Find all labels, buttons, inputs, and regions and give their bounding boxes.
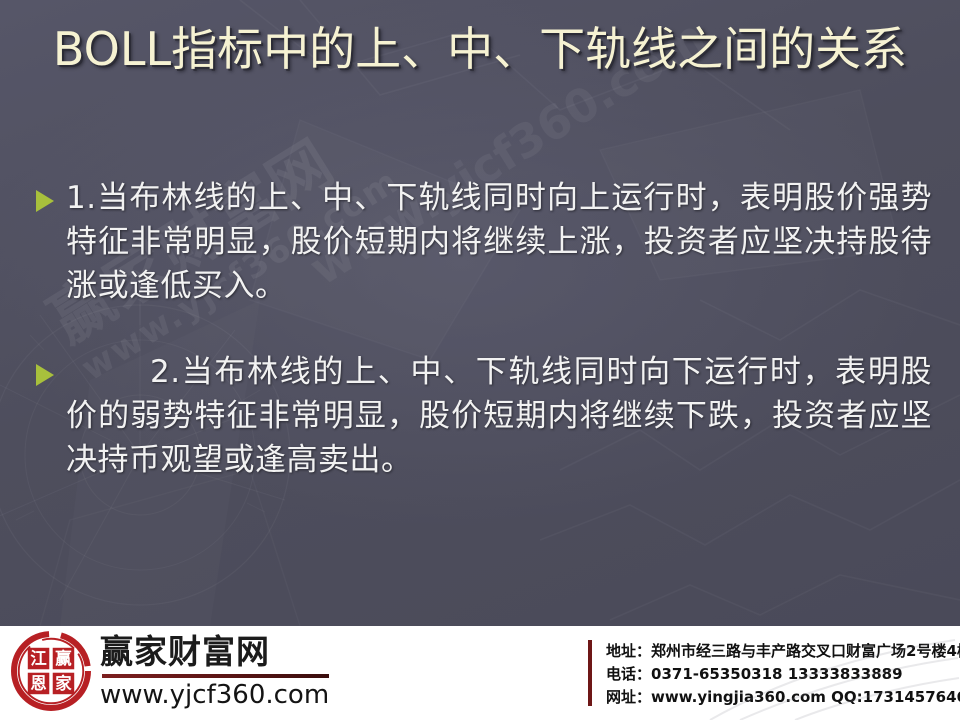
svg-text:恩: 恩 <box>30 674 46 693</box>
brand-url[interactable]: www.yjcf360.com <box>100 681 329 710</box>
brand-divider <box>102 674 329 678</box>
bullet-text: 2.当布林线的上、中、下轨线同时向下运行时，表明股价的弱势特征非常明显，股价短期… <box>66 350 932 482</box>
contact-website-value[interactable]: www.yingjia360.com QQ:1731457646 <box>651 688 960 706</box>
triangle-right-bullet-icon <box>36 364 54 386</box>
bullet-text: 1.当布林线的上、中、下轨线同时向上运行时，表明股价强势特征非常明显，股价短期内… <box>66 176 932 308</box>
footer-bar: 江 赢 恩 家 赢家财富网 www.yjcf360.com 地址：郑州市经三路与… <box>0 626 960 720</box>
jiangen-yingjia-seal-icon: 江 赢 恩 家 <box>8 628 94 714</box>
contact-phone-label: 电话： <box>606 665 651 683</box>
brand-text-block: 赢家财富网 www.yjcf360.com <box>100 632 329 710</box>
contact-phone-value: 0371-65350318 13333833889 <box>651 665 903 683</box>
contact-address-label: 地址： <box>606 642 651 660</box>
list-item: 1.当布林线的上、中、下轨线同时向上运行时，表明股价强势特征非常明显，股价短期内… <box>30 176 932 308</box>
svg-text:江: 江 <box>30 649 46 668</box>
bullet-list: 1.当布林线的上、中、下轨线同时向上运行时，表明股价强势特征非常明显，股价短期内… <box>0 176 960 482</box>
brand-block[interactable]: 江 赢 恩 家 赢家财富网 www.yjcf360.com <box>8 628 329 714</box>
slide-body: 赢家财富网 www.yjcf360.com www.yjcf360.com BO… <box>0 0 960 626</box>
triangle-right-bullet-icon <box>36 190 54 212</box>
contact-phone-line: 电话：0371-65350318 13333833889 <box>606 663 960 686</box>
contact-address-value: 郑州市经三路与丰产路交叉口财富广场2号楼4楼C户 <box>651 642 960 660</box>
contact-website-line: 网址：www.yingjia360.com QQ:1731457646 <box>606 686 960 709</box>
slide-title: BOLL指标中的上、中、下轨线之间的关系 <box>30 22 930 76</box>
svg-text:家: 家 <box>55 674 72 693</box>
bullet-text-content: 2.当布林线的上、中、下轨线同时向下运行时，表明股价的弱势特征非常明显，股价短期… <box>66 354 932 478</box>
list-item: 2.当布林线的上、中、下轨线同时向下运行时，表明股价的弱势特征非常明显，股价短期… <box>30 350 932 482</box>
contact-address-line: 地址：郑州市经三路与丰产路交叉口财富广场2号楼4楼C户 <box>606 640 960 663</box>
contact-info-block: 地址：郑州市经三路与丰产路交叉口财富广场2号楼4楼C户 电话：0371-6535… <box>588 640 960 706</box>
brand-name: 赢家财富网 <box>100 634 329 670</box>
contact-website-label: 网址： <box>606 688 651 706</box>
presentation-slide: 赢家财富网 www.yjcf360.com www.yjcf360.com BO… <box>0 0 960 720</box>
svg-text:赢: 赢 <box>55 649 72 668</box>
